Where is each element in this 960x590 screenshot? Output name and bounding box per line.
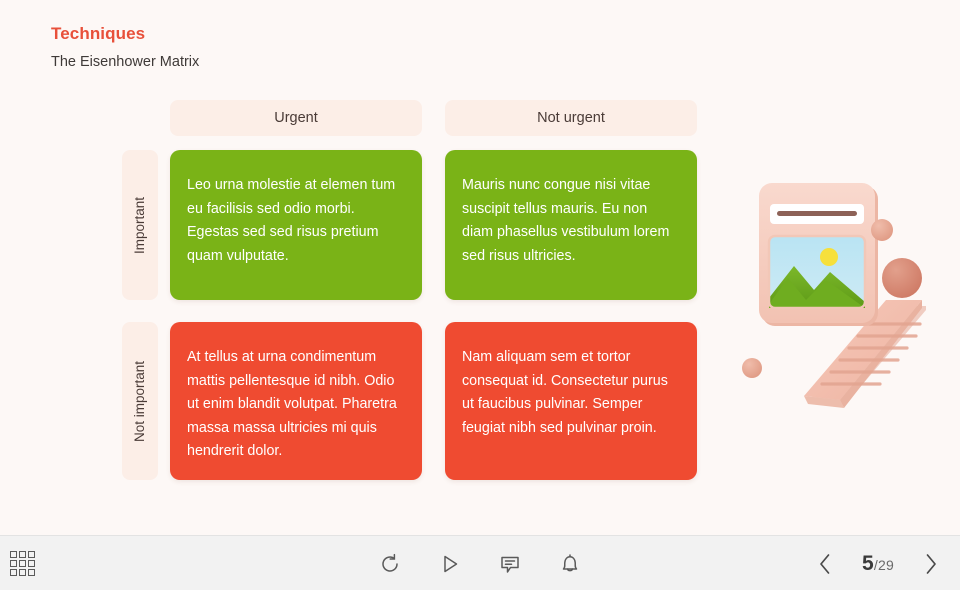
small-sphere xyxy=(871,219,893,241)
toolbar-right-group: 5 / 29 xyxy=(810,536,946,590)
previous-slide-button[interactable] xyxy=(810,549,840,579)
row-header-important: Important xyxy=(122,150,158,300)
row-header-not-important-label: Not important xyxy=(133,360,148,441)
grid-view-icon[interactable] xyxy=(10,551,35,576)
bottom-toolbar: 5 / 29 xyxy=(0,535,960,590)
column-header-not-urgent: Not urgent xyxy=(445,100,697,136)
page-counter[interactable]: 5 / 29 xyxy=(862,552,894,576)
laptop-screen xyxy=(759,183,878,326)
grid-cell xyxy=(10,560,17,567)
toolbar-left-group xyxy=(10,536,35,590)
grid-cell xyxy=(28,551,35,558)
column-header-urgent: Urgent xyxy=(170,100,422,136)
header-block: Techniques The Eisenhower Matrix xyxy=(51,24,199,72)
play-icon[interactable] xyxy=(435,549,465,579)
page-total: 29 xyxy=(878,557,894,573)
grid-cell xyxy=(19,560,26,567)
page-title: Techniques xyxy=(51,24,199,44)
next-slide-button[interactable] xyxy=(916,549,946,579)
grid-cell xyxy=(19,551,26,558)
grid-cell xyxy=(10,551,17,558)
quadrant-not-important-not-urgent: Nam aliquam sem et tortor consequat id. … xyxy=(445,322,697,480)
grid-cell xyxy=(28,560,35,567)
eisenhower-matrix: Urgent Not urgent Important Not importan… xyxy=(122,100,698,480)
quadrant-important-urgent: Leo urna molestie at elemen tum eu facil… xyxy=(170,150,422,300)
laptop-with-picture-icon xyxy=(730,178,945,413)
page-current: 5 xyxy=(862,552,874,576)
slide-root: Techniques The Eisenhower Matrix Urgent … xyxy=(0,0,960,590)
comment-icon[interactable] xyxy=(495,549,525,579)
quadrant-not-important-urgent: At tellus at urna condimentum mattis pel… xyxy=(170,322,422,480)
grid-cell xyxy=(10,569,17,576)
bell-icon[interactable] xyxy=(555,549,585,579)
page-subtitle: The Eisenhower Matrix xyxy=(51,52,199,72)
grid-cell xyxy=(19,569,26,576)
large-sphere xyxy=(882,258,922,298)
refresh-icon[interactable] xyxy=(375,549,405,579)
slide-canvas: Techniques The Eisenhower Matrix Urgent … xyxy=(0,0,960,535)
row-header-important-label: Important xyxy=(133,196,148,253)
quadrant-important-not-urgent: Mauris nunc congue nisi vitae suscipit t… xyxy=(445,150,697,300)
grid-cell xyxy=(28,569,35,576)
row-header-not-important: Not important xyxy=(122,322,158,480)
tiny-sphere xyxy=(742,358,762,378)
